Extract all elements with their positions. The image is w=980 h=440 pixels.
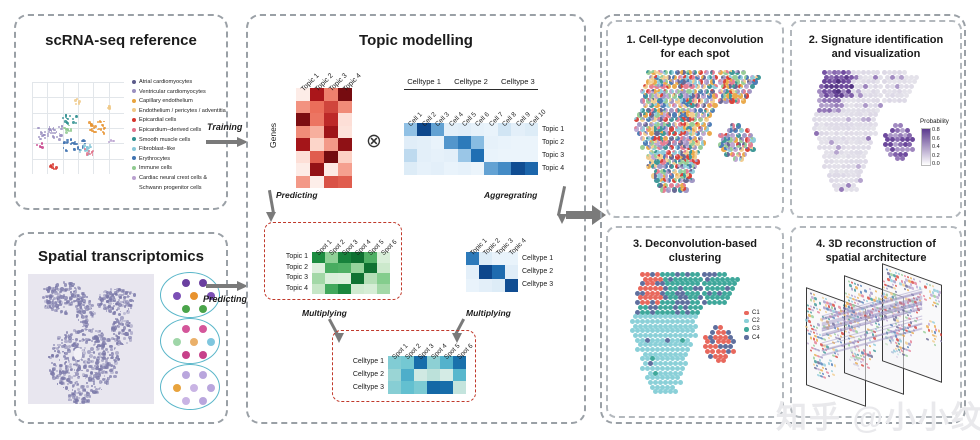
tissue-pixel — [68, 303, 71, 306]
cluster-spot — [673, 380, 678, 385]
cell-type-legend-label: Endothelium / pericytes / adventitia — [139, 108, 226, 114]
umap-point — [64, 120, 66, 122]
heatmap-cell — [431, 162, 444, 175]
tissue-pixel — [69, 287, 72, 290]
tissue-pixel — [104, 371, 107, 374]
tissue-pixel — [77, 360, 79, 362]
umap-point — [78, 100, 81, 103]
tissue-pixel — [124, 305, 126, 307]
tissue-pixel — [113, 308, 114, 309]
umap-point — [84, 148, 86, 150]
heatmap-cell — [511, 162, 524, 175]
tissue-pixel — [51, 354, 54, 357]
matrix-row-label: Celltype 3 — [340, 384, 384, 391]
cell-type-legend-label: Smooth muscle cells — [139, 137, 190, 143]
cluster-spot — [678, 380, 683, 385]
tissue-pixel — [111, 352, 114, 355]
heatmap-cell — [453, 381, 466, 394]
legend-dot-icon — [744, 311, 749, 316]
umap-point — [103, 127, 105, 129]
signature-spot — [910, 147, 915, 152]
umap-point — [63, 141, 66, 144]
reconstruction-spot — [932, 304, 934, 307]
tissue-pixel — [123, 326, 127, 330]
tissue-pixel — [81, 398, 84, 401]
result-2-signature-map — [812, 70, 918, 210]
tissue-pixel — [110, 348, 113, 351]
deconvolution-spot — [739, 156, 744, 161]
tissue-pixel — [87, 350, 91, 354]
tissue-pixel — [56, 283, 59, 286]
heatmap-cell — [444, 162, 457, 175]
reconstruction-spot — [860, 284, 862, 287]
probability-legend-title: Probability — [920, 118, 949, 125]
tissue-pixel — [101, 381, 103, 383]
legend-dot-icon — [132, 118, 136, 122]
heatmap-cell — [310, 176, 324, 189]
umap-point — [62, 117, 64, 119]
cluster-spot — [726, 349, 731, 354]
result-3-title-line2: clustering — [606, 252, 784, 265]
reconstruction-spot — [814, 303, 816, 306]
tissue-pixel — [82, 310, 86, 314]
tissue-pixel — [79, 403, 83, 404]
tissue-pixel — [106, 310, 108, 312]
heatmap-cell — [479, 279, 492, 292]
reconstruction-spot — [908, 343, 910, 346]
cluster-spot — [673, 389, 678, 394]
tissue-pixel — [113, 329, 117, 333]
signature-spot — [902, 98, 907, 103]
tissue-pixel — [81, 392, 83, 394]
tissue-pixel — [59, 359, 60, 360]
tissue-pixel — [84, 349, 86, 351]
topics-celltypes-heatmap — [466, 252, 518, 292]
tissue-pixel — [96, 348, 99, 351]
heatmap-cell — [471, 149, 484, 162]
tissue-pixel — [91, 367, 95, 371]
reconstruction-spot — [816, 307, 818, 310]
tissue-pixel — [85, 316, 87, 318]
heatmap-cell — [296, 151, 310, 164]
tissue-pixel — [83, 376, 84, 377]
signature-spot — [854, 187, 859, 192]
figure-canvas: scRNA-seq reference Atrial cardiomyocyte… — [0, 0, 980, 440]
tissue-pixel — [64, 283, 68, 287]
heatmap-cell — [310, 151, 324, 164]
reconstruction-spot — [870, 355, 872, 358]
step-predicting-spatial-label: Predicting — [203, 294, 247, 304]
heatmap-cell — [427, 381, 440, 394]
tissue-pixel — [99, 303, 102, 306]
tissue-pixel — [99, 297, 103, 301]
heatmap-cell — [511, 136, 524, 149]
cluster-legend-label: C2 — [752, 318, 760, 324]
umap-point — [41, 146, 44, 149]
heatmap-cell — [351, 284, 364, 295]
deconvolution-spot — [640, 145, 645, 150]
tissue-pixel — [126, 324, 129, 327]
deconvolution-spot — [707, 131, 712, 136]
cell-type-legend-item: Immune cells — [132, 164, 226, 174]
tissue-pixel — [70, 368, 74, 372]
heatmap-cell — [296, 176, 310, 189]
tissue-pixel — [68, 390, 70, 392]
cluster-spot — [663, 389, 668, 394]
heatmap-cell — [444, 136, 457, 149]
heatmap-cell — [404, 136, 417, 149]
result-1-title-line2: for each spot — [606, 48, 784, 61]
cell-type-legend-item: Atrial cardiomyocytes — [132, 78, 226, 88]
signature-spot — [858, 178, 863, 183]
reconstruction-spot — [923, 294, 925, 297]
deconvolution-spot — [724, 152, 729, 157]
tissue-pixel — [55, 377, 57, 379]
tissue-pixel — [61, 339, 63, 341]
umap-point — [58, 126, 60, 128]
cell-type-legend-label: Cardiac neural crest cells & — [139, 175, 207, 181]
cell-type-legend-label: Epicardial cells — [139, 117, 176, 123]
reconstruction-spot — [854, 289, 856, 292]
reconstruction-spot — [864, 289, 866, 292]
spatial-spot-dot — [190, 338, 198, 346]
reconstruction-spot — [813, 363, 815, 366]
heatmap-cell — [492, 279, 505, 292]
cluster-spot — [668, 389, 673, 394]
reconstruction-spot — [817, 349, 819, 352]
deconvolution-spot — [735, 98, 740, 103]
cluster-legend-item: C2 — [744, 318, 760, 324]
heatmap-cell — [484, 162, 497, 175]
reconstruction-spot — [851, 351, 853, 354]
heatmap-cell — [466, 279, 479, 292]
reconstruction-spot — [926, 338, 928, 341]
step-predicting-left-label: Predicting — [276, 190, 318, 200]
reconstruction-spot — [886, 319, 888, 322]
matrix-row-label: Celltype 2 — [522, 268, 553, 275]
tissue-pixel — [57, 350, 60, 353]
heatmap-cell — [458, 162, 471, 175]
reconstruction-spot — [834, 364, 836, 367]
legend-dot-icon — [132, 137, 136, 141]
umap-point — [75, 143, 77, 145]
reconstruction-spot — [869, 345, 871, 348]
reconstruction-spot — [893, 280, 895, 283]
tissue-pixel — [52, 375, 54, 377]
reconstruction-spot — [817, 323, 819, 326]
spatial-spot-dot — [182, 397, 190, 405]
umap-point — [37, 127, 40, 130]
reconstruction-spot — [848, 331, 850, 334]
legend-dot-icon — [132, 176, 136, 180]
reconstruction-spot — [898, 348, 900, 351]
reconstruction-spot — [810, 336, 812, 339]
tissue-pixel — [97, 373, 101, 377]
tissue-pixel — [121, 332, 124, 335]
predicting-spatial-arrow — [206, 281, 250, 291]
celltype-group-label: Celltype 3 — [498, 77, 538, 86]
tissue-lumen — [74, 348, 82, 360]
matrix-row-label: Topic 1 — [274, 253, 308, 260]
cell-type-legend-label: Atrial cardiomyocytes — [139, 79, 192, 85]
heatmap-cell — [377, 263, 390, 274]
heatmap-cell — [324, 101, 338, 114]
tissue-pixel — [53, 344, 55, 346]
cluster-legend-item: C4 — [744, 335, 760, 341]
tissue-pixel — [83, 360, 87, 364]
step-multiplying-left-label: Multiplying — [302, 308, 347, 318]
heatmap-cell — [338, 113, 352, 126]
umap-point — [63, 147, 65, 149]
tissue-pixel — [75, 338, 78, 341]
umap-point — [84, 140, 86, 142]
heatmap-cell — [338, 163, 352, 176]
tissue-pixel — [49, 369, 52, 372]
tissue-pixel — [112, 293, 115, 296]
tissue-pixel — [59, 368, 62, 371]
heatmap-cell — [296, 163, 310, 176]
tissue-pixel — [107, 357, 109, 359]
reconstruction-spot — [825, 367, 827, 370]
tissue-pixel — [82, 326, 83, 327]
tissue-pixel — [75, 399, 78, 402]
reconstruction-spot — [940, 339, 942, 342]
spatial-spot-circle — [160, 318, 220, 364]
reconstruction-spot — [828, 362, 830, 365]
heatmap-cell — [401, 381, 414, 394]
tissue-pixel — [72, 283, 75, 286]
tissue-pixel — [129, 338, 132, 341]
legend-dot-icon — [132, 147, 136, 151]
umap-point — [75, 103, 77, 105]
reconstruction-spot — [935, 305, 937, 308]
step-multiplying-right-label: Multiplying — [466, 308, 511, 318]
tissue-pixel — [77, 383, 79, 385]
tissue-pixel — [86, 329, 88, 331]
spatial-spot-circle — [160, 364, 220, 410]
umap-point — [65, 131, 68, 134]
legend-dot-icon — [744, 319, 749, 324]
colorbar-tick-label: 0.8 — [932, 127, 940, 133]
tissue-pixel — [113, 305, 115, 307]
reconstruction-spot — [895, 341, 897, 344]
umap-point — [59, 134, 62, 137]
heatmap-cell — [505, 279, 518, 292]
tissue-pixel — [127, 302, 130, 305]
spatial-spot-dot — [199, 305, 207, 313]
tissue-pixel — [130, 307, 132, 309]
result-3-cluster-map — [630, 272, 738, 412]
cell-type-legend-label: Ventricular cardiomyocytes — [139, 89, 206, 95]
matrix-row-label: Topic 3 — [274, 274, 308, 281]
deconvolution-spot — [733, 156, 738, 161]
cluster-spot — [693, 333, 698, 338]
reconstruction-spot — [831, 369, 833, 372]
tissue-pixel — [68, 339, 72, 343]
matrix-row-label: Topic 1 — [542, 126, 564, 133]
reconstruction-spot — [828, 375, 830, 378]
heatmap-cell — [505, 265, 518, 278]
tissue-pixel — [106, 295, 108, 297]
heatmap-cell — [417, 149, 430, 162]
cell-type-legend-label: Schwann progenitor cells — [139, 185, 202, 191]
heatmap-cell — [511, 149, 524, 162]
step-training-label: Training — [207, 122, 242, 132]
result-1-title-line1: 1. Cell-type deconvolution — [606, 34, 784, 47]
reconstruction-spot — [807, 342, 809, 345]
heatmap-cell — [458, 149, 471, 162]
tissue-pixel — [100, 365, 102, 367]
reconstruction-spot — [886, 287, 888, 290]
heatmap-cell — [338, 151, 352, 164]
tissue-pixel — [106, 381, 109, 384]
umap-point — [72, 118, 74, 120]
tissue-pixel — [72, 339, 74, 341]
tissue-pixel — [57, 336, 61, 340]
matrix-row-label: Topic 4 — [542, 165, 564, 172]
cell-type-legend-item: Capillary endothelium — [132, 97, 226, 107]
tissue-pixel — [110, 371, 113, 374]
cell-type-legend-label: Fibroblast−like — [139, 146, 175, 152]
heatmap-cell — [324, 151, 338, 164]
reconstruction-spot — [875, 290, 877, 293]
cell-type-legend-label: Capillary endothelium — [139, 98, 193, 104]
heatmap-cell — [310, 138, 324, 151]
reconstruction-spot — [835, 355, 837, 358]
umap-point — [80, 149, 82, 151]
heatmap-cell — [498, 162, 511, 175]
cluster-legend-label: C4 — [752, 335, 760, 341]
heatmap-cell — [296, 138, 310, 151]
reconstruction-spot — [810, 324, 812, 327]
heatmap-cell — [324, 126, 338, 139]
cluster-legend-label: C1 — [752, 310, 760, 316]
celltype-group-label: Celltype 1 — [404, 77, 444, 86]
tissue-pixel — [107, 351, 109, 353]
heatmap-cell — [325, 284, 338, 295]
umap-point — [58, 138, 61, 141]
heatmap-cell — [414, 369, 427, 382]
heatmap-cell — [440, 381, 453, 394]
reconstruction-spot — [855, 362, 857, 365]
heatmap-cell — [312, 263, 325, 274]
cluster-legend: C1C2C3C4 — [744, 310, 760, 343]
result-2-title-line2: and visualization — [790, 48, 962, 61]
reconstruction-spot — [817, 311, 819, 314]
tissue-pixel — [50, 307, 52, 309]
cell-type-legend-label: Immune cells — [139, 165, 172, 171]
reconstruction-spot — [883, 280, 885, 283]
tissue-pixel — [60, 364, 63, 367]
reconstruction-spot — [932, 340, 934, 343]
heatmap-cell — [364, 273, 377, 284]
tissue-pixel — [63, 306, 65, 308]
tissue-pixel — [65, 361, 67, 363]
umap-point — [65, 116, 67, 118]
result-4-3d-reconstruction — [806, 272, 948, 408]
umap-gridline — [109, 82, 110, 174]
signature-spot — [861, 164, 866, 169]
tissue-pixel — [64, 358, 66, 360]
umap-point — [55, 166, 58, 169]
tissue-he-image — [28, 274, 154, 404]
tissue-pixel — [46, 287, 49, 290]
tissue-pixel — [86, 382, 88, 384]
result-2-title-line1: 2. Signature identification — [790, 34, 962, 47]
tissue-pixel — [70, 333, 73, 336]
tissue-pixel — [42, 296, 45, 299]
cluster-spot — [716, 358, 721, 363]
heatmap-cell — [338, 101, 352, 114]
tissue-pixel — [81, 370, 83, 372]
heatmap-cell — [296, 126, 310, 139]
umap-point — [44, 131, 46, 133]
reconstruction-spot — [826, 371, 828, 374]
result-4-title-line1: 4. 3D reconstruction of — [790, 238, 962, 251]
heatmap-cell — [466, 265, 479, 278]
heatmap-cell — [417, 162, 430, 175]
heatmap-cell — [453, 369, 466, 382]
legend-dot-icon — [744, 327, 749, 332]
spatial-spot-dot — [207, 338, 215, 346]
cell-type-legend-label: Epicardium−derived cells — [139, 127, 201, 133]
celltype-group-rule — [498, 89, 538, 90]
heatmap-cell — [364, 284, 377, 295]
matrix-row-label: Celltype 1 — [340, 358, 384, 365]
heatmap-cell — [431, 149, 444, 162]
tissue-pixel — [75, 363, 78, 366]
genes-topics-heatmap — [296, 88, 352, 188]
tissue-pixel — [89, 304, 91, 306]
tissue-pixel — [122, 344, 124, 346]
legend-dot-spacer — [132, 185, 136, 189]
cluster-spot — [658, 389, 663, 394]
heatmap-cell — [325, 263, 338, 274]
result-4-title-line2: spatial architecture — [790, 252, 962, 265]
heatmap-cell — [296, 101, 310, 114]
deconvolution-spot — [666, 187, 671, 192]
umap-point — [86, 146, 88, 148]
heatmap-cell — [377, 284, 390, 295]
cell-type-legend: Atrial cardiomyocytesVentricular cardiom… — [132, 78, 226, 193]
umap-point — [69, 115, 71, 117]
signature-spot — [878, 103, 883, 108]
reconstruction-spot — [904, 287, 906, 290]
cell-type-legend-item: Erythrocytes — [132, 155, 226, 165]
reconstruction-spot — [910, 334, 912, 337]
reconstruction-spot — [814, 341, 816, 344]
tissue-pixel — [114, 347, 116, 349]
reconstruction-spot — [916, 285, 918, 288]
reconstruction-spot — [928, 329, 930, 332]
tissue-pixel — [64, 311, 67, 314]
reconstruction-spot — [908, 349, 910, 352]
tissue-pixel — [123, 337, 126, 340]
signature-spot — [900, 156, 905, 161]
umap-point — [75, 122, 77, 124]
tissue-pixel — [86, 296, 87, 297]
heatmap-cell — [471, 162, 484, 175]
spatial-spot-dot — [207, 384, 215, 392]
reconstruction-spot — [905, 354, 907, 357]
tissue-pixel — [111, 337, 114, 340]
tissue-pixel — [91, 360, 94, 363]
legend-dot-icon — [132, 89, 136, 93]
heatmap-cell — [484, 149, 497, 162]
spatial-spot-dot — [182, 325, 190, 333]
tissue-pixel — [105, 348, 108, 351]
tissue-pixel — [75, 372, 79, 376]
